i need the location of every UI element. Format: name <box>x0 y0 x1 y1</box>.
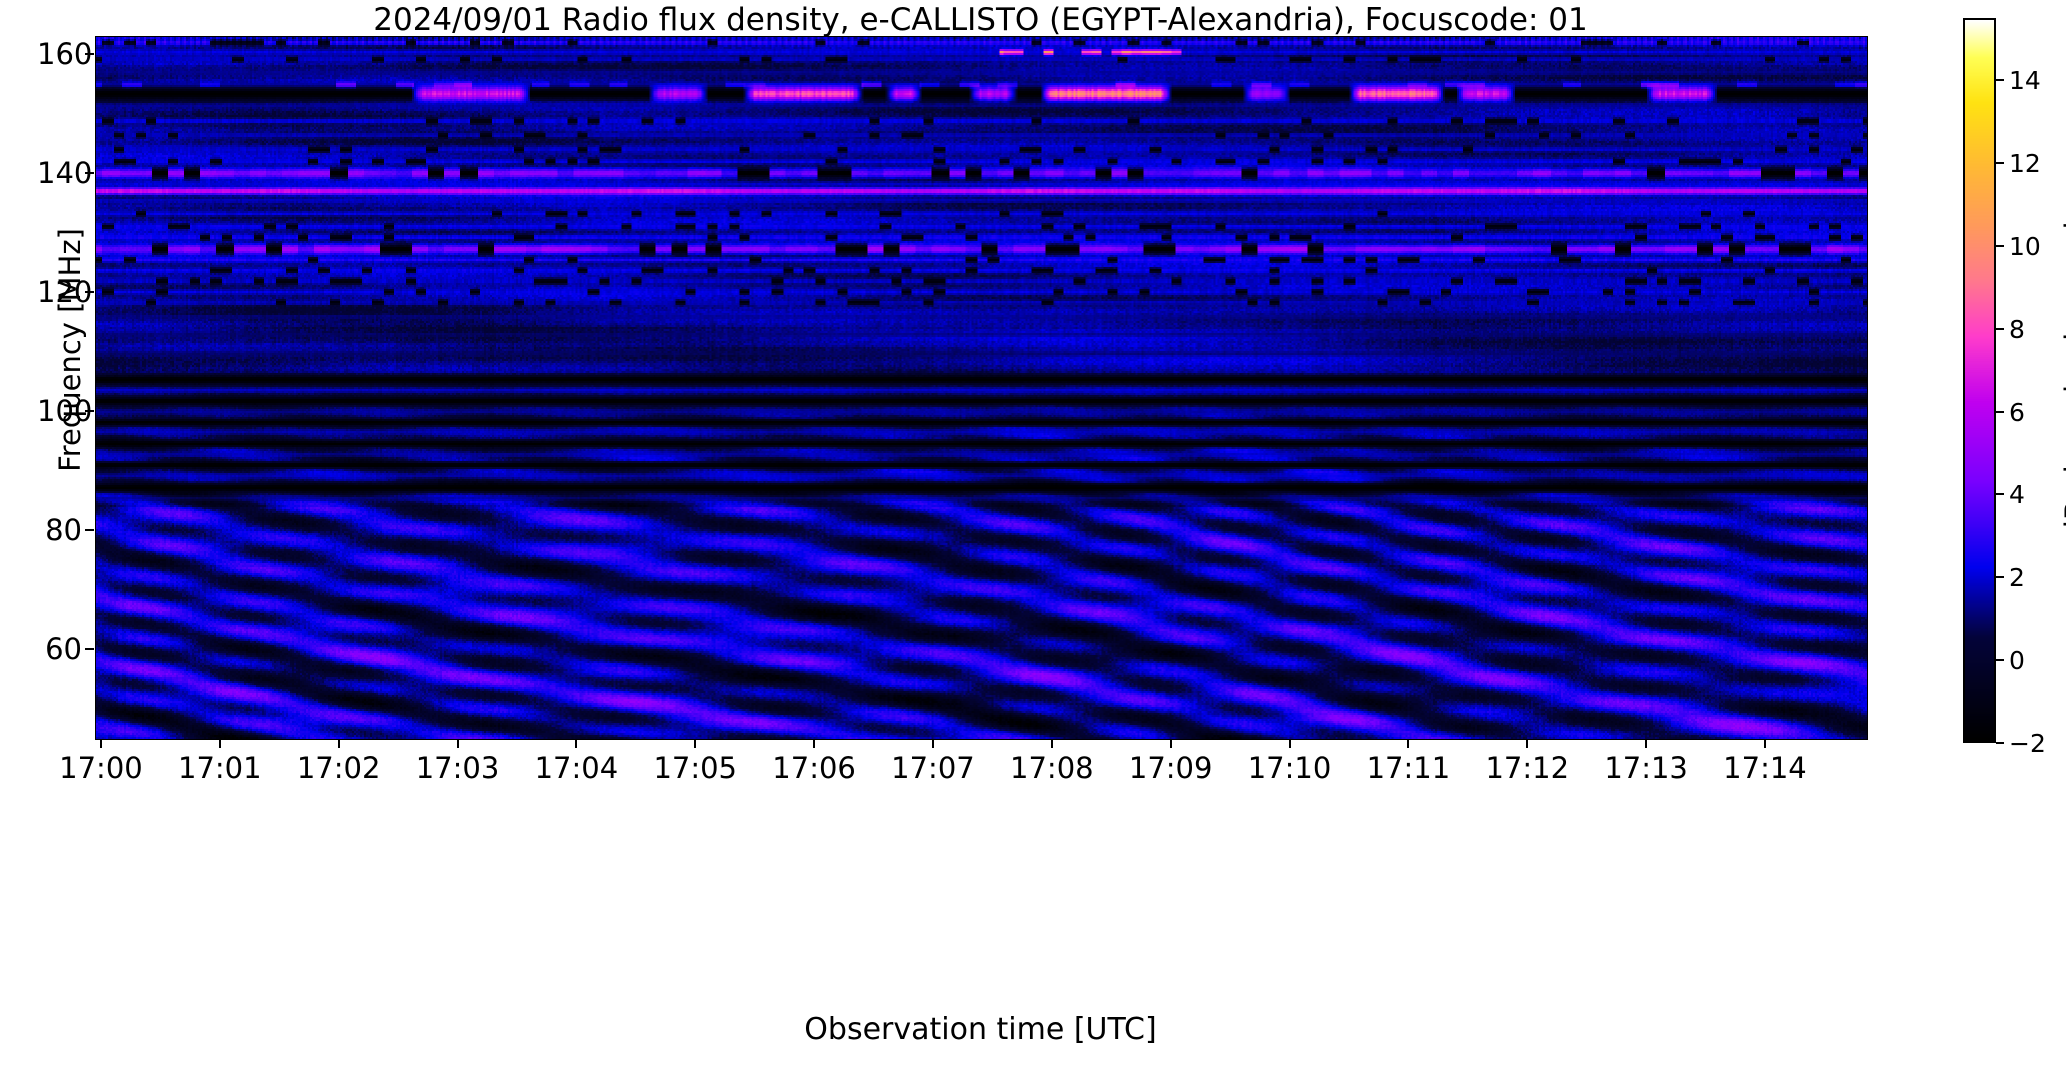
x-axis-title: Observation time [UTC] <box>95 1012 1866 1048</box>
colorbar-tick-mark <box>1996 411 2004 413</box>
x-tick-mark <box>1764 739 1766 748</box>
y-tick-label: 160 <box>37 40 82 69</box>
colorbar-tick-mark <box>1996 576 2004 578</box>
x-tick-mark <box>219 739 221 748</box>
y-tick-label: 120 <box>37 278 82 307</box>
x-tick-mark <box>100 739 102 748</box>
colorbar-tick-mark <box>1996 79 2004 81</box>
x-tick-mark <box>932 739 934 748</box>
y-tick-mark <box>85 53 94 55</box>
colorbar-tick-label: 2 <box>2009 565 2025 590</box>
y-tick-label: 100 <box>37 397 82 426</box>
y-tick-mark <box>85 410 94 412</box>
colorbar-tick-label: 14 <box>2009 68 2041 93</box>
y-tick-mark <box>85 172 94 174</box>
colorbar-tick-label: 10 <box>2009 234 2041 259</box>
colorbar-tick-mark <box>1996 245 2004 247</box>
x-tick-label: 17:14 <box>1685 754 1845 783</box>
colorbar-title: dB above background <box>2059 30 2066 730</box>
figure-root: 2024/09/01 Radio flux density, e-CALLIST… <box>0 0 2066 1067</box>
x-tick-mark <box>694 739 696 748</box>
x-tick-mark <box>1407 739 1409 748</box>
colorbar-tick-label: 4 <box>2009 482 2025 507</box>
page-title: 2024/09/01 Radio flux density, e-CALLIST… <box>95 2 1866 38</box>
colorbar-tick-label: 8 <box>2009 317 2025 342</box>
y-tick-label: 60 <box>37 635 82 664</box>
x-tick-mark <box>1051 739 1053 748</box>
x-tick-mark <box>1170 739 1172 748</box>
colorbar-tick-mark <box>1996 742 2004 744</box>
x-tick-mark <box>1526 739 1528 748</box>
colorbar-tick-label: 6 <box>2009 400 2025 425</box>
x-tick-mark <box>338 739 340 748</box>
x-tick-mark <box>1645 739 1647 748</box>
spectrogram-plot-area[interactable] <box>95 36 1868 740</box>
y-tick-mark <box>85 648 94 650</box>
colorbar-tick-label: −2 <box>2009 731 2046 756</box>
colorbar-tick-label: 0 <box>2009 648 2025 673</box>
x-tick-mark <box>457 739 459 748</box>
colorbar-tick-label: 12 <box>2009 151 2041 176</box>
colorbar-tick-mark <box>1996 162 2004 164</box>
y-axis-title: Frequency [MHz] <box>53 0 87 700</box>
colorbar-gradient <box>1965 20 1994 741</box>
colorbar[interactable] <box>1963 18 1996 743</box>
x-tick-mark <box>1289 739 1291 748</box>
y-tick-mark <box>85 529 94 531</box>
y-tick-mark <box>85 291 94 293</box>
x-tick-mark <box>813 739 815 748</box>
y-tick-label: 140 <box>37 159 82 188</box>
x-tick-mark <box>575 739 577 748</box>
colorbar-tick-mark <box>1996 328 2004 330</box>
y-tick-label: 80 <box>37 516 82 545</box>
colorbar-tick-mark <box>1996 493 2004 495</box>
colorbar-tick-mark <box>1996 659 2004 661</box>
spectrogram-image <box>96 37 1867 739</box>
